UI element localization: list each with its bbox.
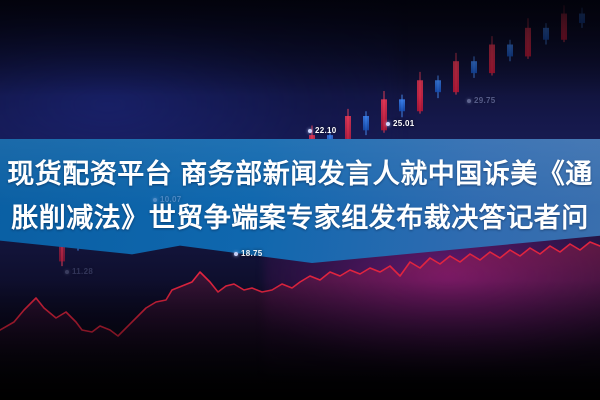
headline-line-2: 胀削减法》世贸争端案专家组发布裁决答记者问 <box>0 196 600 240</box>
candle-body <box>399 99 405 111</box>
top-vignette <box>0 0 600 96</box>
candle-body <box>363 116 369 130</box>
headline-line-1: 现货配资平台 商务部新闻发言人就中国诉美《通 <box>0 152 600 196</box>
candle-body <box>381 99 387 130</box>
price-label-11-28: 11.28 <box>72 267 93 276</box>
price-label-29-75: 29.75 <box>474 96 496 105</box>
price-label-22-10: 22.10 <box>315 126 337 135</box>
banner-image: 11.28 29.75 22.10 25.01 10.07 18.75 现货配资… <box>0 0 600 400</box>
bottom-vignette <box>0 280 600 400</box>
page-title: 现货配资平台 商务部新闻发言人就中国诉美《通 胀削减法》世贸争端案专家组发布裁决… <box>0 152 600 240</box>
price-label-18-75: 18.75 <box>241 249 263 258</box>
price-label-25-01: 25.01 <box>393 119 415 128</box>
